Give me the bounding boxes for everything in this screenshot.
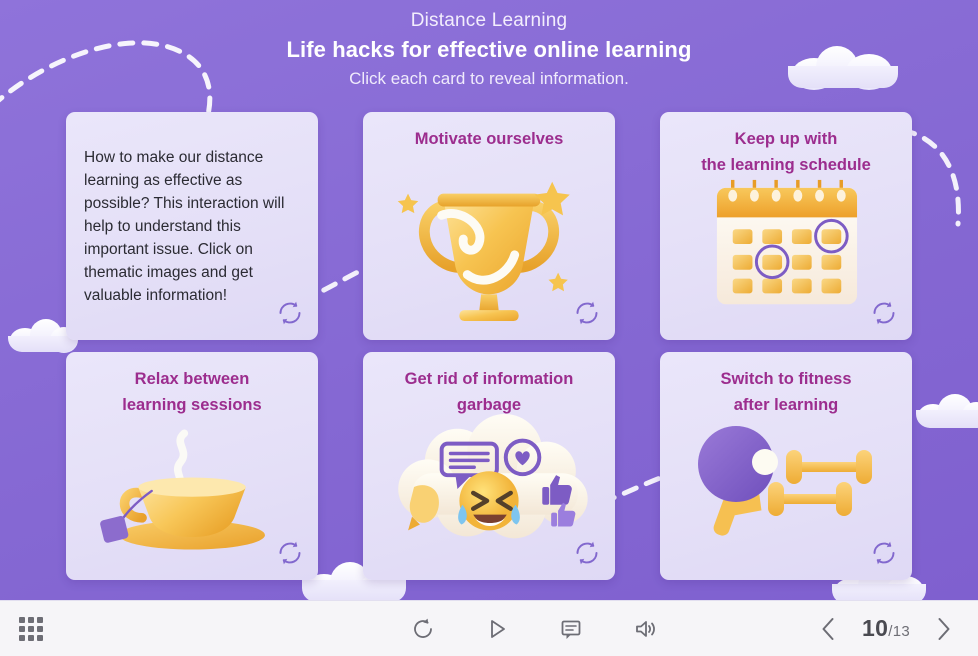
card-intro-body: How to make our distance learning as eff… — [84, 146, 304, 307]
dumbbell-icon — [786, 450, 872, 484]
star-icon — [548, 273, 567, 292]
slide-player: Distance Learning Life hacks for effecti… — [0, 0, 978, 656]
card-relax[interactable]: Relax between learning sessions — [66, 352, 318, 580]
prev-slide-button[interactable] — [812, 612, 846, 646]
card-garbage-title-line2: garbage — [457, 396, 521, 414]
volume-icon[interactable] — [628, 612, 662, 646]
card-garbage[interactable]: Get rid of information garbage — [363, 352, 615, 580]
card-schedule-title: Keep up with the learning schedule — [668, 126, 904, 178]
play-icon[interactable] — [480, 612, 514, 646]
card-fitness-title: Switch to fitness after learning — [668, 366, 904, 418]
grid-menu-icon[interactable] — [14, 612, 48, 646]
card-relax-title: Relax between learning sessions — [74, 366, 310, 418]
cards-grid: How to make our distance learning as eff… — [66, 112, 916, 580]
slide-header: Distance Learning Life hacks for effecti… — [0, 8, 978, 92]
card-fitness[interactable]: Switch to fitness after learning — [660, 352, 912, 580]
refresh-icon[interactable] — [572, 538, 602, 568]
card-intro[interactable]: How to make our distance learning as eff… — [66, 112, 318, 340]
dumbbell-icon — [768, 482, 852, 516]
star-icon — [398, 194, 419, 214]
total-pages: /13 — [888, 623, 910, 640]
notes-icon[interactable] — [554, 612, 588, 646]
toolbar-center — [330, 612, 738, 646]
card-garbage-title-line1: Get rid of information — [405, 370, 574, 388]
refresh-icon[interactable] — [572, 298, 602, 328]
card-motivate[interactable]: Motivate ourselves — [363, 112, 615, 340]
refresh-icon[interactable] — [275, 538, 305, 568]
toolbar-left — [0, 612, 330, 646]
card-schedule-title-line1: Keep up with — [735, 130, 838, 148]
card-relax-title-line1: Relax between — [135, 370, 250, 388]
player-toolbar: 10/13 — [0, 600, 978, 656]
card-relax-title-line2: learning sessions — [122, 396, 261, 414]
refresh-icon[interactable] — [275, 298, 305, 328]
refresh-icon[interactable] — [869, 298, 899, 328]
card-schedule-title-line2: the learning schedule — [701, 156, 871, 174]
toolbar-right: 10/13 — [738, 612, 978, 646]
instruction-text: Click each card to reveal information. — [0, 66, 978, 92]
page-title: Life hacks for effective online learning — [0, 34, 978, 66]
eyebrow-text: Distance Learning — [0, 8, 978, 34]
card-fitness-title-line1: Switch to fitness — [720, 370, 851, 388]
current-page: 10 — [862, 615, 888, 641]
next-slide-button[interactable] — [926, 612, 960, 646]
cloud-right-mid — [916, 392, 978, 428]
card-motivate-title: Motivate ourselves — [371, 126, 607, 152]
slide-canvas: Distance Learning Life hacks for effecti… — [0, 0, 978, 600]
replay-icon[interactable] — [406, 612, 440, 646]
card-garbage-title: Get rid of information garbage — [371, 366, 607, 418]
card-schedule[interactable]: Keep up with the learning schedule — [660, 112, 912, 340]
refresh-icon[interactable] — [869, 538, 899, 568]
page-indicator: 10/13 — [862, 615, 910, 642]
